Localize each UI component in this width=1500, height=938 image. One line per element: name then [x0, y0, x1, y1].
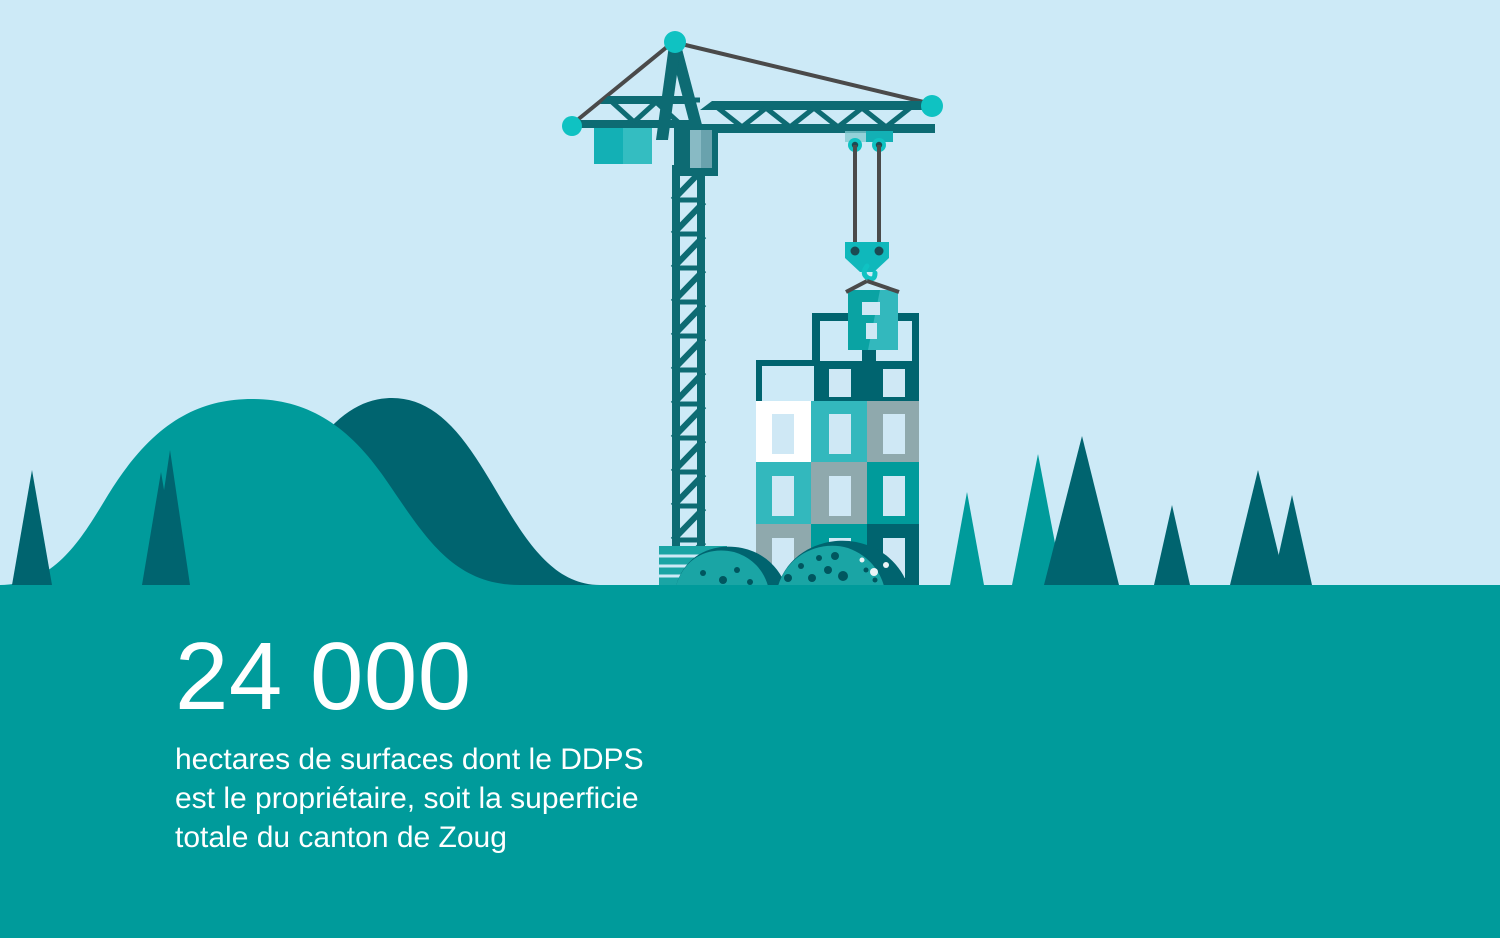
window [829, 414, 851, 454]
pebble [864, 568, 869, 573]
pebble [798, 563, 804, 569]
statistic-text-block: 24 000 hectares de surfaces dont le DDPS… [175, 628, 895, 857]
pebble [816, 555, 822, 561]
module-window [862, 302, 880, 315]
pebble [734, 567, 740, 573]
pebble [700, 570, 706, 576]
pebble [824, 566, 832, 574]
caption-line-1: hectares de surfaces dont le DDPS [175, 740, 895, 779]
infographic-root: 24 000 hectares de surfaces dont le DDPS… [0, 0, 1500, 938]
window [883, 476, 905, 516]
pebble-light [860, 558, 865, 563]
pebble [719, 576, 727, 584]
crane-tip-node-left [562, 116, 582, 136]
crane-apex-node [664, 31, 686, 53]
pebble [838, 571, 848, 581]
pebble [784, 574, 792, 582]
statistic-caption: hectares de surfaces dont le DDPS est le… [175, 740, 895, 857]
window [772, 414, 794, 454]
statistic-value: 24 000 [175, 628, 895, 726]
crane-cable-anchor-node [921, 95, 943, 117]
window [829, 369, 851, 397]
pebble [747, 579, 753, 585]
crane-operator-cabin [674, 124, 718, 176]
pebble [873, 578, 878, 583]
pebble [831, 552, 839, 560]
building-frame-opening [762, 366, 814, 401]
window [883, 369, 905, 397]
caption-line-2: est le propriétaire, soit la superficie [175, 779, 895, 818]
window [772, 476, 794, 516]
window [829, 476, 851, 516]
pebble-light [883, 562, 889, 568]
caption-line-3: totale du canton de Zoug [175, 818, 895, 857]
prefab-module [848, 290, 898, 350]
pebble-light [870, 568, 878, 576]
pebble [808, 574, 816, 582]
window [883, 414, 905, 454]
module-window [866, 323, 877, 339]
